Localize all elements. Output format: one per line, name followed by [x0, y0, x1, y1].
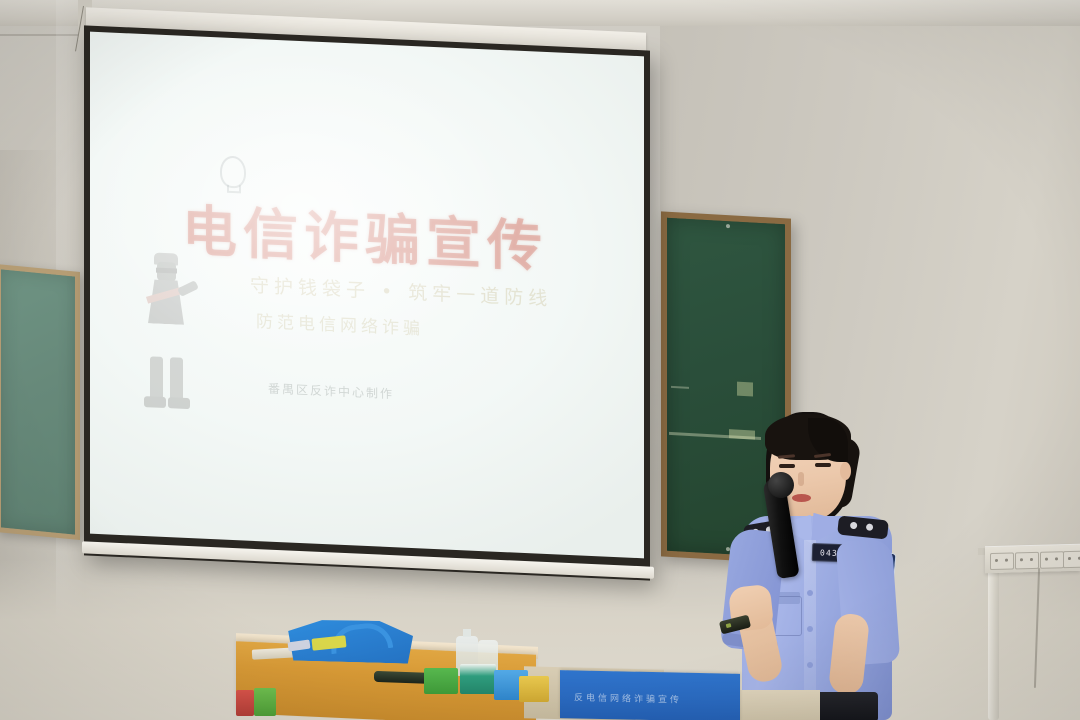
lightbulb-icon [220, 155, 246, 188]
power-socket-icon[interactable] [1063, 551, 1080, 569]
slide-subtitle-line2: 防范电信网络诈骗 [256, 307, 424, 339]
power-socket-icon[interactable] [1015, 552, 1039, 570]
power-socket-icon[interactable] [990, 552, 1014, 570]
shirt-button [807, 590, 813, 596]
wall-conduit [988, 555, 999, 720]
projection-screen-surface: 电信诈骗宣传 守护钱袋子 • 筑牢一道防线 防范电信网络诈骗 番禺区反诈中心制作 [90, 32, 644, 559]
projection-screen: 电信诈骗宣传 守护钱袋子 • 筑牢一道防线 防范电信网络诈骗 番禺区反诈中心制作 [84, 25, 650, 580]
teal-box [460, 664, 496, 694]
nose [798, 472, 804, 486]
red-box [236, 690, 254, 716]
left-blackboard-surface [1, 269, 75, 534]
power-outlet-strip[interactable] [985, 544, 1080, 573]
yellow-box [519, 676, 549, 702]
slide-footer-credit: 番禺区反诈中心制作 [268, 380, 394, 403]
shirt-button [807, 662, 813, 668]
eye [815, 463, 831, 467]
classroom-presentation-photo: 电信诈骗宣传 守护钱袋子 • 筑牢一道防线 防范电信网络诈骗 番禺区反诈中心制作 [0, 0, 1080, 720]
board-screw [726, 224, 730, 228]
eye [779, 464, 795, 468]
banner-text: 反电信网络诈骗宣传 [574, 690, 732, 706]
chalk-mark [737, 382, 753, 397]
presentation-slide: 电信诈骗宣传 守护钱袋子 • 筑牢一道防线 防范电信网络诈骗 番禺区反诈中心制作 [90, 32, 644, 559]
thief-mascot-icon [138, 252, 198, 415]
promotional-banner: 反电信网络诈骗宣传 [560, 670, 740, 720]
police-officer-presenter: 043961 [712, 400, 932, 720]
chalk-mark [671, 386, 689, 389]
shirt-button [807, 626, 813, 632]
lips [792, 494, 811, 502]
slide-title: 电信诈骗宣传 [182, 186, 582, 284]
green-box [254, 688, 276, 716]
ear [840, 462, 851, 480]
green-box [424, 668, 458, 694]
left-blackboard [0, 264, 80, 540]
power-socket-icon[interactable] [1040, 551, 1064, 569]
